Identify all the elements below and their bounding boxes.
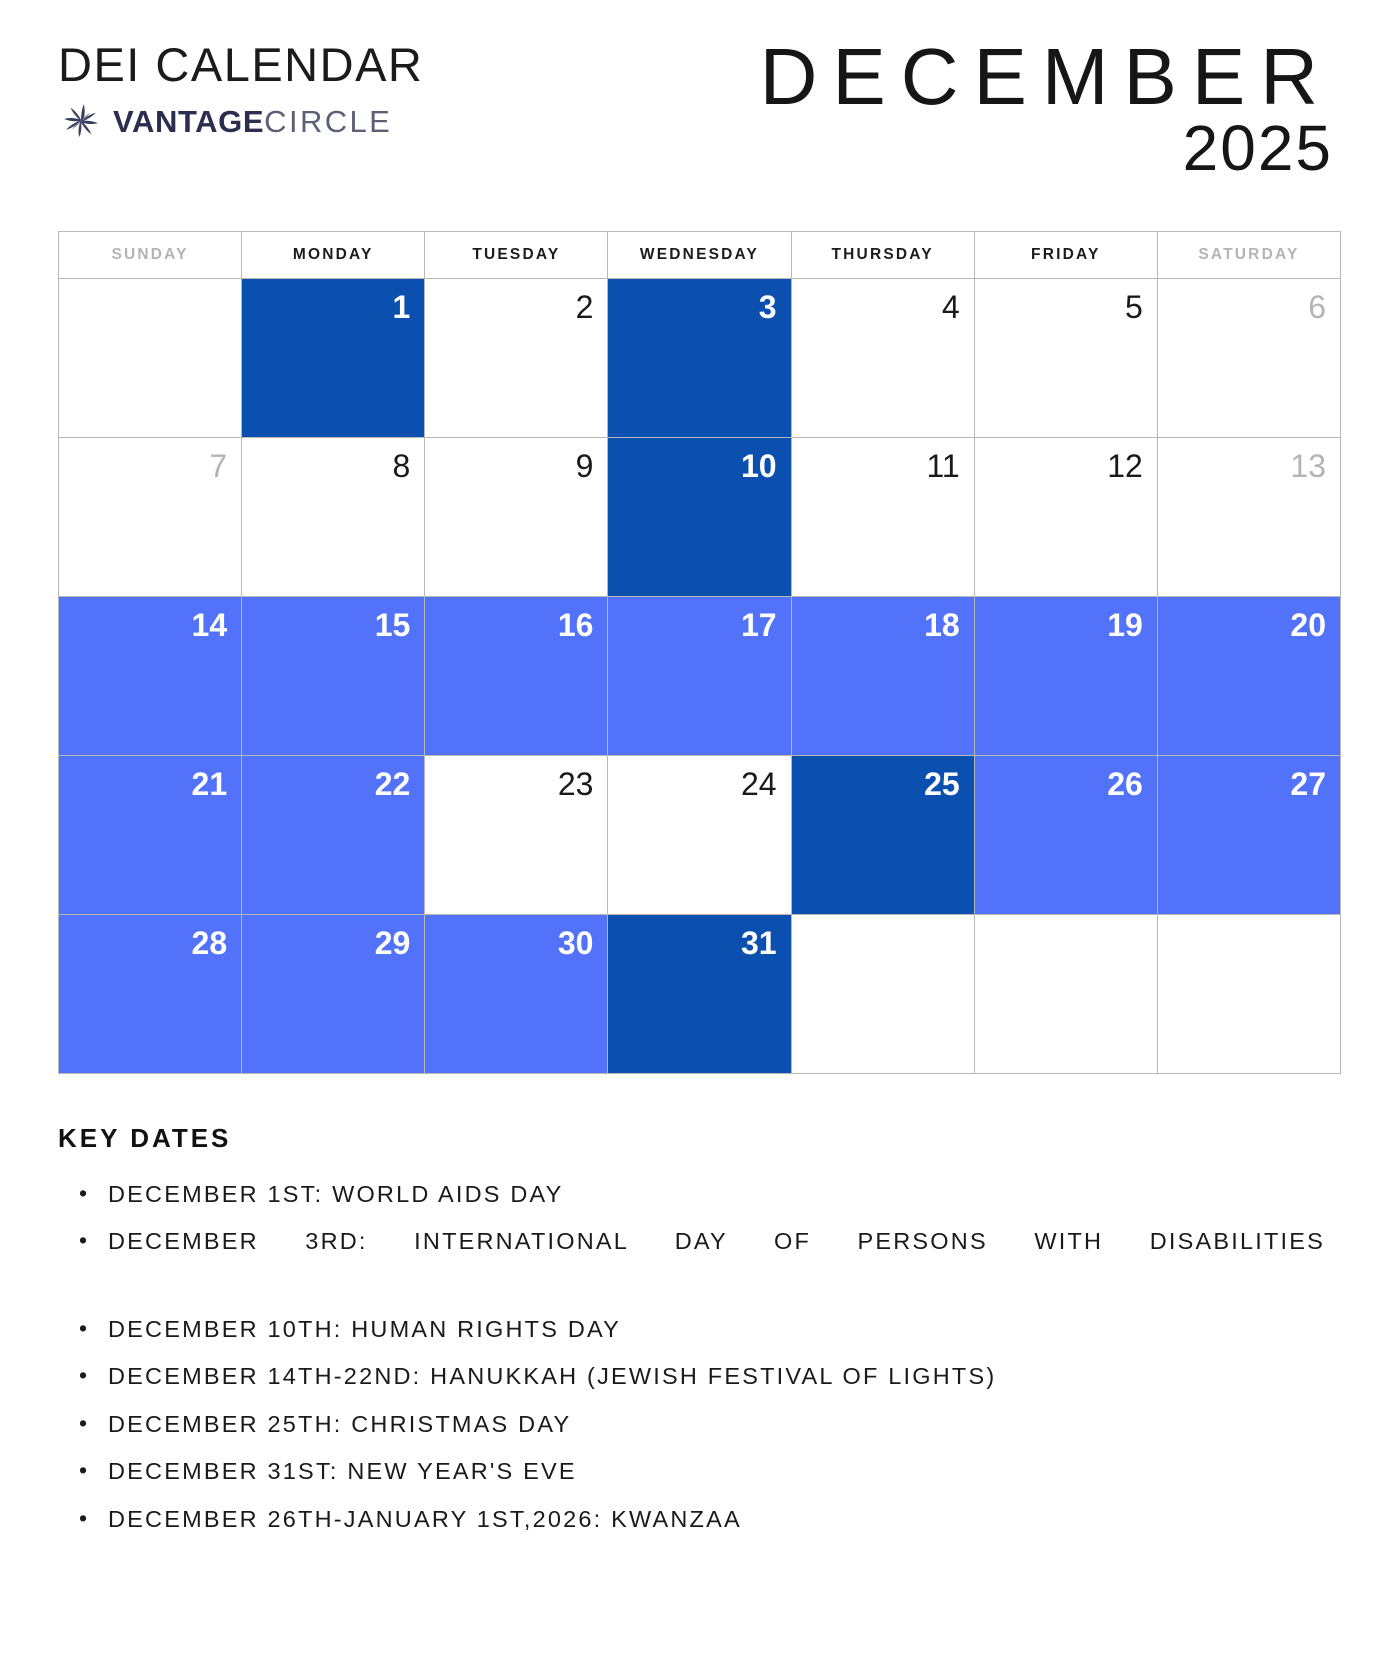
calendar-week-row: 21222324252627 — [59, 756, 1341, 915]
day-cell-7[interactable]: 7 — [59, 438, 242, 597]
day-number: 7 — [209, 450, 227, 482]
day-number: 13 — [1290, 450, 1326, 482]
day-number: 22 — [375, 768, 411, 800]
weekday-header-row: SUNDAY MONDAY TUESDAY WEDNESDAY THURSDAY… — [59, 232, 1341, 279]
weekday-header-monday: MONDAY — [242, 232, 425, 279]
day-cell-16[interactable]: 16 — [425, 597, 608, 756]
key-date-item: DECEMBER 26TH-JANUARY 1ST,2026: KWANZAA — [58, 1499, 1341, 1539]
day-cell-23[interactable]: 23 — [425, 756, 608, 915]
key-date-text: DECEMBER 31ST: NEW YEAR'S EVE — [108, 1458, 577, 1484]
day-cell-25[interactable]: 25 — [792, 756, 975, 915]
day-cell-1[interactable]: 1 — [242, 279, 425, 438]
day-cell-28[interactable]: 28 — [59, 915, 242, 1074]
year-label: 2025 — [748, 116, 1333, 181]
logo-word-vantage: VANTAGE — [113, 104, 264, 139]
key-date-text: DECEMBER 26TH-JANUARY 1ST,2026: KWANZAA — [108, 1506, 742, 1532]
calendar-grid: SUNDAY MONDAY TUESDAY WEDNESDAY THURSDAY… — [58, 231, 1341, 1074]
day-cell-24[interactable]: 24 — [608, 756, 791, 915]
day-number: 27 — [1290, 768, 1326, 800]
page-header: DEI CALENDAR — [0, 0, 1396, 182]
day-number: 1 — [392, 291, 410, 323]
weekday-header-friday: FRIDAY — [975, 232, 1158, 279]
day-cell-18[interactable]: 18 — [792, 597, 975, 756]
key-date-item: DECEMBER 10TH: HUMAN RIGHTS DAY — [58, 1309, 1341, 1349]
key-date-item: DECEMBER 31ST: NEW YEAR'S EVE — [58, 1451, 1341, 1491]
calendar-week-row: 78910111213 — [59, 438, 1341, 597]
day-number: 15 — [375, 609, 411, 641]
day-number: 20 — [1290, 609, 1326, 641]
day-number: 23 — [558, 768, 594, 800]
day-cell-21[interactable]: 21 — [59, 756, 242, 915]
day-cell-19[interactable]: 19 — [975, 597, 1158, 756]
day-number: 28 — [192, 927, 228, 959]
day-number: 21 — [192, 768, 228, 800]
day-cell-empty — [975, 915, 1158, 1074]
day-cell-31[interactable]: 31 — [608, 915, 791, 1074]
day-number: 10 — [741, 450, 777, 482]
key-date-text: DECEMBER 1ST: WORLD AIDS DAY — [108, 1181, 564, 1207]
day-number: 30 — [558, 927, 594, 959]
vantage-circle-logo: VANTAGECIRCLE — [58, 101, 423, 141]
key-dates-heading: KEY DATES — [58, 1123, 1341, 1154]
day-cell-10[interactable]: 10 — [608, 438, 791, 597]
calendar-week-row: 14151617181920 — [59, 597, 1341, 756]
day-number: 25 — [924, 768, 960, 800]
key-dates-list: DECEMBER 1ST: WORLD AIDS DAYDECEMBER 3RD… — [58, 1174, 1341, 1539]
dei-calendar-page: DEI CALENDAR — [0, 0, 1396, 1658]
weekday-header-saturday: SATURDAY — [1158, 232, 1341, 279]
day-number: 9 — [576, 450, 594, 482]
month-label: DECEMBER — [748, 34, 1333, 120]
day-number: 19 — [1107, 609, 1143, 641]
day-cell-17[interactable]: 17 — [608, 597, 791, 756]
day-cell-30[interactable]: 30 — [425, 915, 608, 1074]
day-number: 2 — [576, 291, 594, 323]
day-cell-29[interactable]: 29 — [242, 915, 425, 1074]
calendar-weeks: 1234567891011121314151617181920212223242… — [59, 279, 1341, 1074]
day-number: 5 — [1125, 291, 1143, 323]
day-number: 26 — [1107, 768, 1143, 800]
day-number: 24 — [741, 768, 777, 800]
day-number: 11 — [926, 450, 959, 482]
day-number: 8 — [392, 450, 410, 482]
weekday-header-sunday: SUNDAY — [59, 232, 242, 279]
day-cell-empty — [792, 915, 975, 1074]
key-date-text: DECEMBER 14TH-22ND: HANUKKAH (JEWISH FES… — [108, 1363, 996, 1389]
key-dates-section: KEY DATES DECEMBER 1ST: WORLD AIDS DAYDE… — [58, 1123, 1341, 1539]
calendar-week-row: 28293031 — [59, 915, 1341, 1074]
day-cell-22[interactable]: 22 — [242, 756, 425, 915]
day-number: 12 — [1107, 450, 1143, 482]
brand-block: DEI CALENDAR — [58, 34, 423, 141]
day-cell-13[interactable]: 13 — [1158, 438, 1341, 597]
day-cell-20[interactable]: 20 — [1158, 597, 1341, 756]
day-cell-8[interactable]: 8 — [242, 438, 425, 597]
day-cell-3[interactable]: 3 — [608, 279, 791, 438]
logo-wordmark: VANTAGECIRCLE — [113, 106, 392, 137]
day-number: 3 — [759, 291, 777, 323]
key-date-item: DECEMBER 1ST: WORLD AIDS DAY — [58, 1174, 1341, 1214]
day-cell-empty — [59, 279, 242, 438]
day-cell-6[interactable]: 6 — [1158, 279, 1341, 438]
weekday-header-tuesday: TUESDAY — [425, 232, 608, 279]
day-cell-5[interactable]: 5 — [975, 279, 1158, 438]
month-title-block: DECEMBER 2025 — [748, 34, 1341, 182]
day-number: 18 — [924, 609, 960, 641]
day-cell-empty — [1158, 915, 1341, 1074]
key-date-text: DECEMBER 3RD: INTERNATIONAL DAY OF PERSO… — [108, 1228, 1325, 1254]
key-date-item: DECEMBER 14TH-22ND: HANUKKAH (JEWISH FES… — [58, 1356, 1341, 1396]
day-number: 4 — [942, 291, 960, 323]
day-cell-11[interactable]: 11 — [792, 438, 975, 597]
weekday-header-wednesday: WEDNESDAY — [608, 232, 791, 279]
page-title: DEI CALENDAR — [58, 40, 423, 89]
day-cell-14[interactable]: 14 — [59, 597, 242, 756]
weekday-header-thursday: THURSDAY — [792, 232, 975, 279]
day-cell-27[interactable]: 27 — [1158, 756, 1341, 915]
day-cell-9[interactable]: 9 — [425, 438, 608, 597]
day-number: 29 — [375, 927, 411, 959]
key-date-text: DECEMBER 25TH: CHRISTMAS DAY — [108, 1411, 571, 1437]
day-cell-4[interactable]: 4 — [792, 279, 975, 438]
day-number: 16 — [558, 609, 594, 641]
key-date-text: DECEMBER 10TH: HUMAN RIGHTS DAY — [108, 1316, 621, 1342]
day-cell-2[interactable]: 2 — [425, 279, 608, 438]
day-cell-26[interactable]: 26 — [975, 756, 1158, 915]
key-date-item: DECEMBER 25TH: CHRISTMAS DAY — [58, 1404, 1341, 1444]
vantage-circle-star-icon — [58, 101, 104, 141]
logo-word-circle: CIRCLE — [264, 104, 392, 139]
day-number: 31 — [741, 927, 777, 959]
day-cell-15[interactable]: 15 — [242, 597, 425, 756]
day-number: 14 — [192, 609, 228, 641]
calendar-week-row: 123456 — [59, 279, 1341, 438]
day-number: 17 — [741, 609, 777, 641]
key-date-item: DECEMBER 3RD: INTERNATIONAL DAY OF PERSO… — [58, 1221, 1341, 1302]
day-cell-12[interactable]: 12 — [975, 438, 1158, 597]
day-number: 6 — [1308, 291, 1326, 323]
